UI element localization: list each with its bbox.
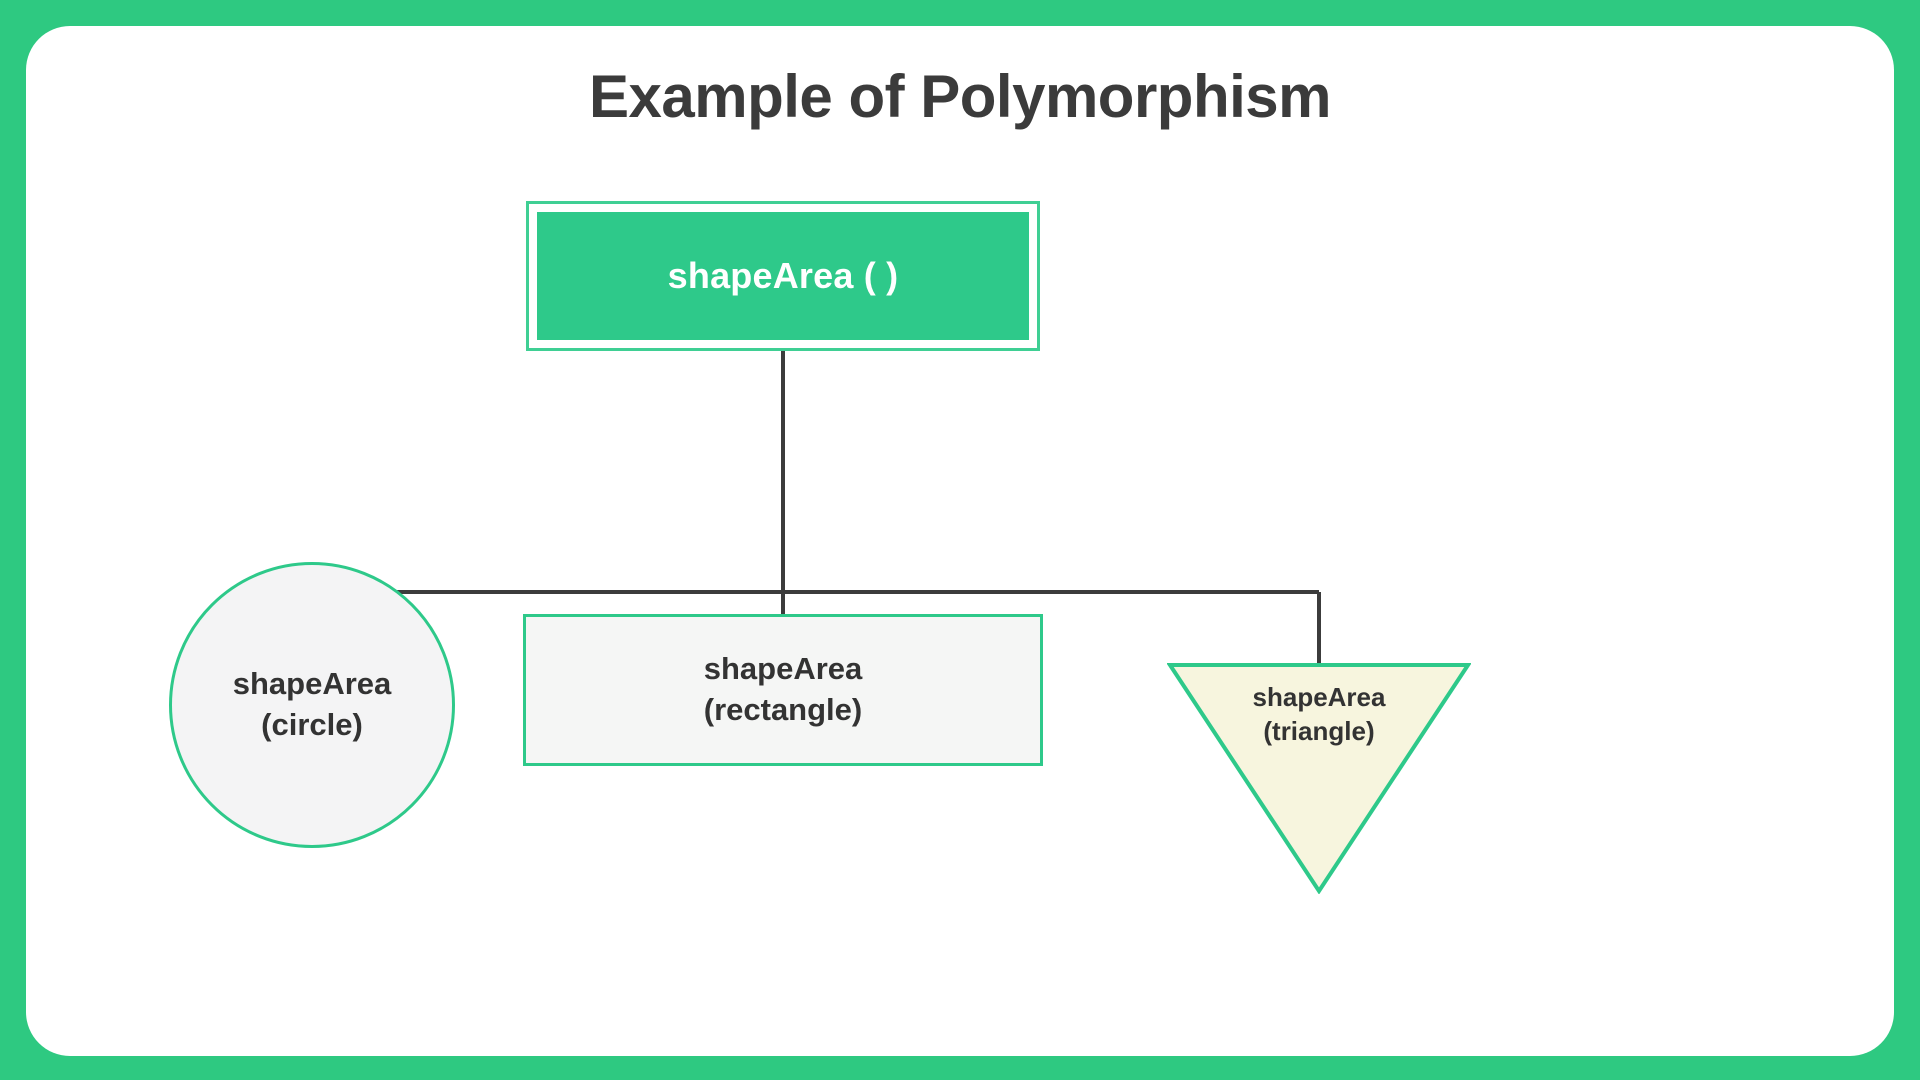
- node-root-label: shapeArea ( ): [668, 255, 899, 297]
- node-rectangle-shapearea[interactable]: shapeArea (rectangle): [523, 614, 1043, 766]
- connector-lines: [26, 26, 1894, 1056]
- node-circle-label: shapeArea (circle): [233, 664, 392, 746]
- polymorphism-diagram: shapeArea ( ) shapeArea (circle) shapeAr…: [26, 26, 1894, 1056]
- node-triangle-shapearea[interactable]: shapeArea (triangle): [1167, 662, 1471, 894]
- node-circle-shapearea[interactable]: shapeArea (circle): [169, 562, 455, 848]
- node-rectangle-label: shapeArea (rectangle): [704, 649, 863, 731]
- white-card: Example of Polymorphism shapeArea ( ): [26, 26, 1894, 1056]
- outer-green-frame: Example of Polymorphism shapeArea ( ): [0, 0, 1920, 1080]
- node-root-shapearea[interactable]: shapeArea ( ): [526, 201, 1040, 351]
- triangle-shape: [1167, 662, 1471, 894]
- node-root-fill: shapeArea ( ): [537, 212, 1029, 340]
